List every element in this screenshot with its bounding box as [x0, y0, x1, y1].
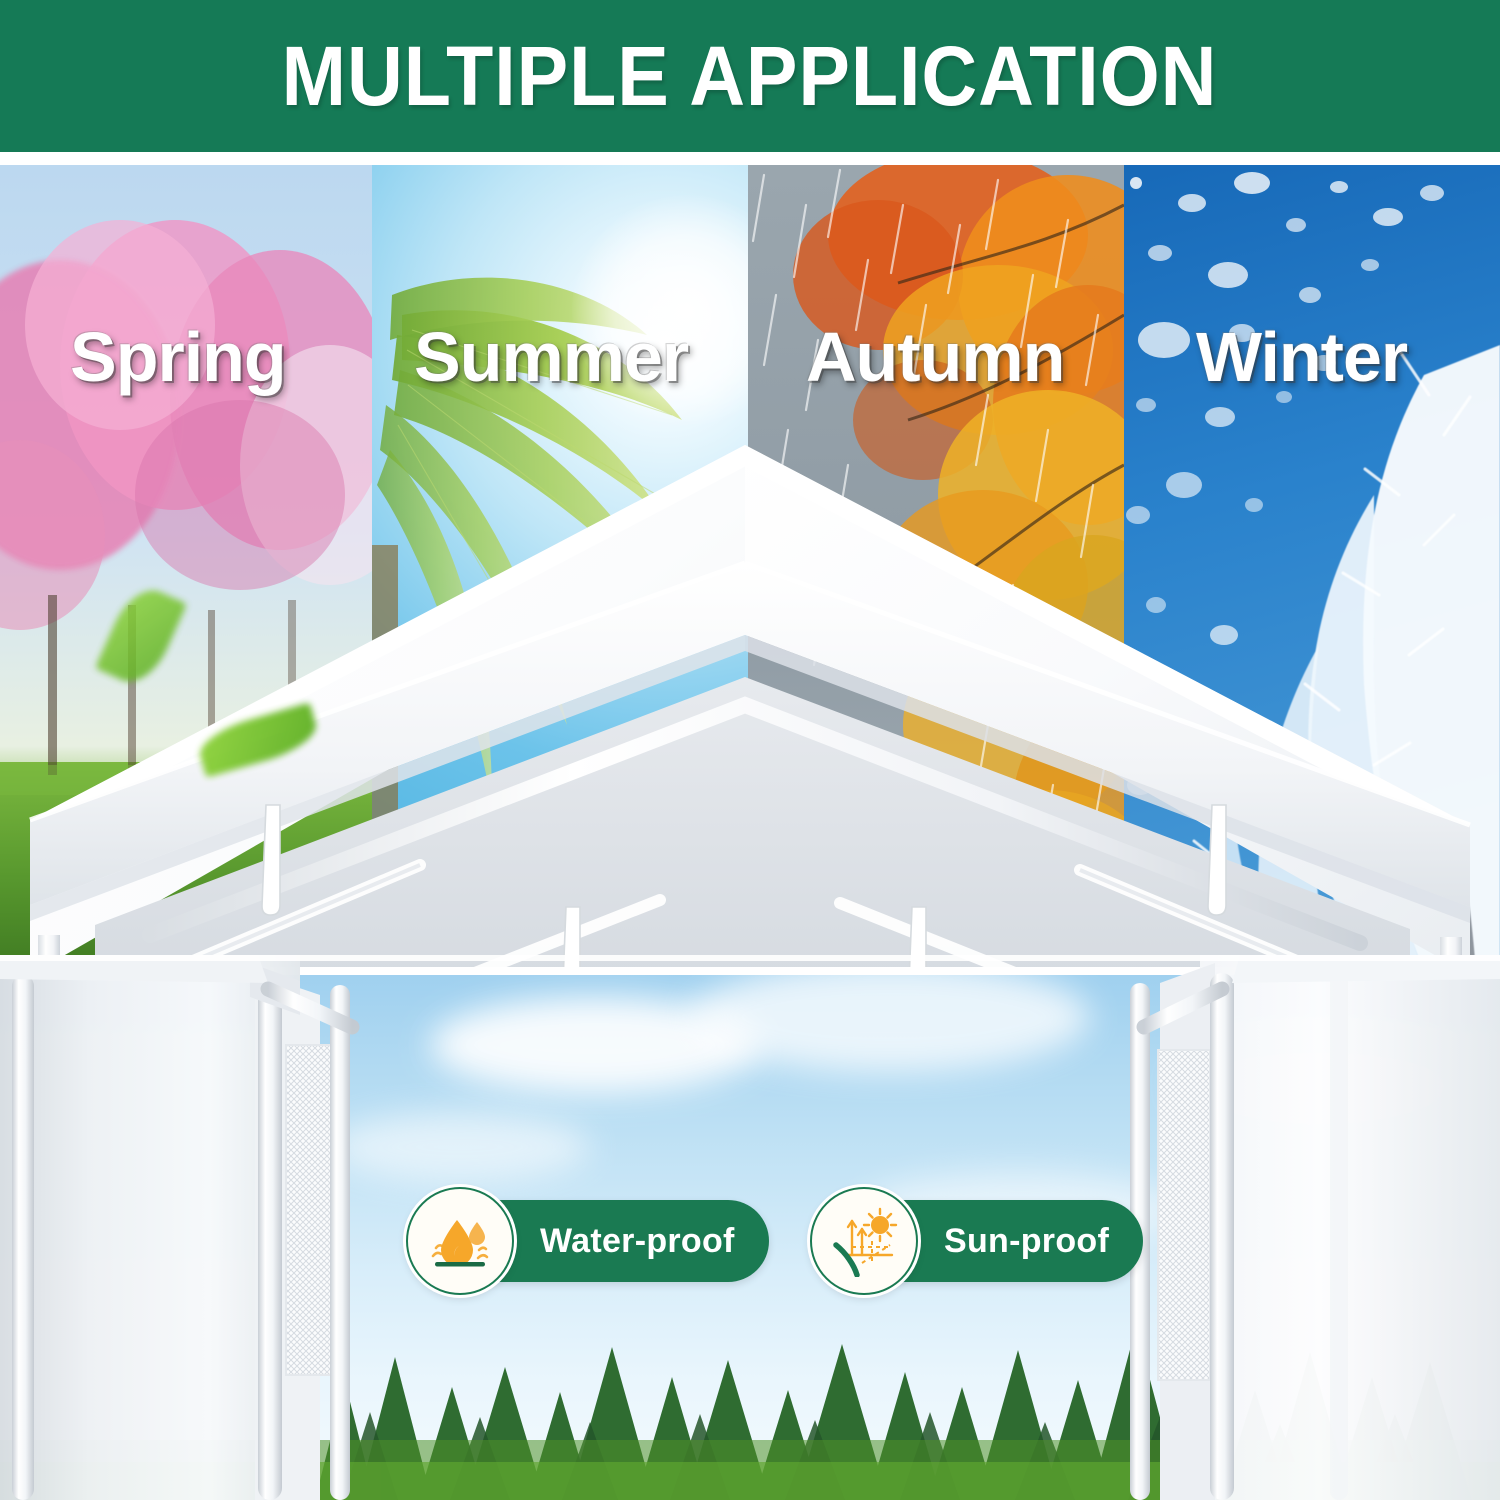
spring-trees-svg	[0, 165, 372, 972]
badge-label-sun-proof: Sun-proof	[944, 1222, 1109, 1261]
water-drop-icon	[406, 1187, 514, 1295]
badge-water-proof[interactable]: Water-proof	[406, 1195, 769, 1287]
season-panel-spring: Spring	[0, 165, 372, 972]
surface-bar	[435, 1262, 485, 1267]
water-drop-big	[441, 1220, 473, 1266]
header-banner: MULTIPLE APPLICATION	[0, 0, 1500, 152]
canopy-curve	[836, 1245, 857, 1275]
product-feature-image: MULTIPLE APPLICATION	[0, 0, 1500, 1500]
season-panel-winter: Winter	[1124, 165, 1500, 972]
sun-disc	[871, 1216, 889, 1234]
season-panel-autumn: Autumn	[748, 165, 1124, 972]
sun-shield-icon	[810, 1187, 918, 1295]
water-drop-small	[469, 1222, 485, 1245]
feature-badges: Water-proof	[0, 1195, 1500, 1305]
page-title: MULTIPLE APPLICATION	[282, 28, 1218, 125]
badge-sun-proof[interactable]: Sun-proof	[810, 1195, 1143, 1287]
autumn-rain-svg	[748, 165, 1124, 972]
season-panel-summer: Summer	[372, 165, 748, 972]
badge-label-water-proof: Water-proof	[540, 1222, 735, 1261]
season-strip: Spring	[0, 165, 1500, 972]
winter-snowfall-svg	[1124, 165, 1500, 972]
